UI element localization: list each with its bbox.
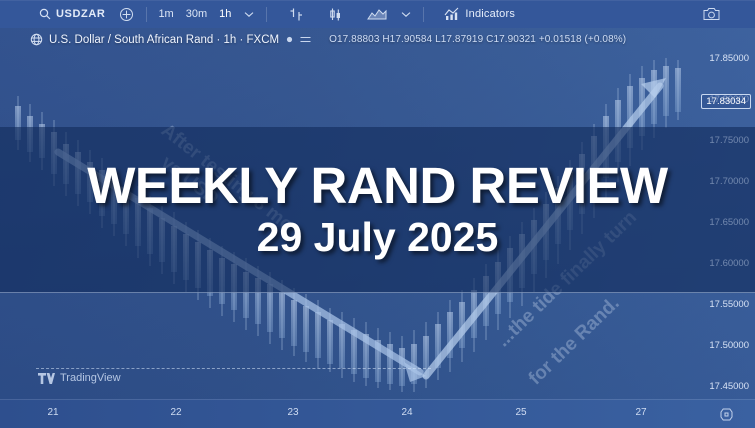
chevron-down-icon — [401, 11, 411, 18]
time-axis-settings-icon[interactable] — [720, 408, 733, 421]
price-tick: 17.70000 — [709, 176, 749, 187]
top-toolbar[interactable]: USDZAR 1m 30m 1h — [0, 0, 755, 28]
time-tick: 27 — [635, 407, 646, 418]
title-band — [0, 127, 755, 293]
candlestick-chart-type-icon — [328, 7, 343, 22]
legend-ohlc-values: O17.88803 H17.90584 L17.87919 C17.90321 … — [329, 34, 626, 45]
time-axis[interactable]: 21 22 23 24 25 27 — [0, 399, 755, 428]
support-dashed-line — [36, 368, 431, 369]
price-tick: 17.45000 — [709, 381, 749, 392]
snapshot-button[interactable] — [696, 0, 727, 28]
time-tick: 23 — [287, 407, 298, 418]
chart-type-candles-button[interactable] — [321, 0, 350, 28]
area-chart-type-icon — [367, 7, 387, 21]
globe-icon — [30, 33, 43, 46]
toolbar-divider — [266, 7, 267, 22]
search-icon — [39, 8, 51, 20]
price-tick: 17.75000 — [709, 135, 749, 146]
toolbar-divider — [146, 7, 147, 22]
chart-type-area-button[interactable] — [360, 0, 394, 28]
chart-type-dropdown-button[interactable] — [394, 0, 418, 28]
status-dot-icon — [285, 35, 294, 44]
price-tick: 17.85000 — [709, 53, 749, 64]
indicators-label: Indicators — [465, 8, 515, 20]
time-tick: 22 — [170, 407, 181, 418]
symbol-search-button[interactable]: USDZAR — [32, 0, 112, 28]
time-tick: 24 — [401, 407, 412, 418]
plus-circle-icon — [119, 7, 134, 22]
symbol-legend[interactable]: U.S. Dollar / South African Rand · 1h · … — [30, 33, 626, 46]
bar-chart-type-icon — [289, 7, 304, 22]
timeframe-1m[interactable]: 1m — [152, 0, 179, 28]
price-tick: 17.50000 — [709, 340, 749, 351]
timeframe-30m[interactable]: 30m — [180, 0, 213, 28]
legend-settings-icon[interactable] — [300, 35, 311, 44]
price-tick: 17.55000 — [709, 299, 749, 310]
indicators-icon — [444, 7, 460, 21]
time-tick: 21 — [47, 407, 58, 418]
price-tick: 17.65000 — [709, 217, 749, 228]
toolbar-divider — [423, 7, 424, 22]
price-axis[interactable]: 17.85000 17.80000 17.75000 17.70000 17.6… — [685, 28, 755, 400]
add-symbol-button[interactable] — [112, 0, 141, 28]
timeframe-1h[interactable]: 1h — [213, 0, 237, 28]
current-price-label: 17.83034 — [701, 94, 751, 109]
symbol-label: USDZAR — [56, 8, 105, 20]
indicators-button[interactable]: Indicators — [437, 0, 522, 28]
tradingview-watermark: TradingView — [38, 372, 121, 384]
camera-icon — [703, 7, 720, 21]
tradingview-watermark-text: TradingView — [60, 372, 121, 384]
legend-title: U.S. Dollar / South African Rand · 1h · … — [49, 34, 279, 46]
timeframe-dropdown-button[interactable] — [237, 0, 261, 28]
time-tick: 25 — [515, 407, 526, 418]
tradingview-chart-screenshot: TradingView After testing 8 mo vs USD ..… — [0, 0, 755, 428]
chart-type-bars-button[interactable] — [282, 0, 311, 28]
price-tick: 17.60000 — [709, 258, 749, 269]
chevron-down-icon — [244, 11, 254, 18]
tradingview-logo-icon — [38, 373, 55, 384]
